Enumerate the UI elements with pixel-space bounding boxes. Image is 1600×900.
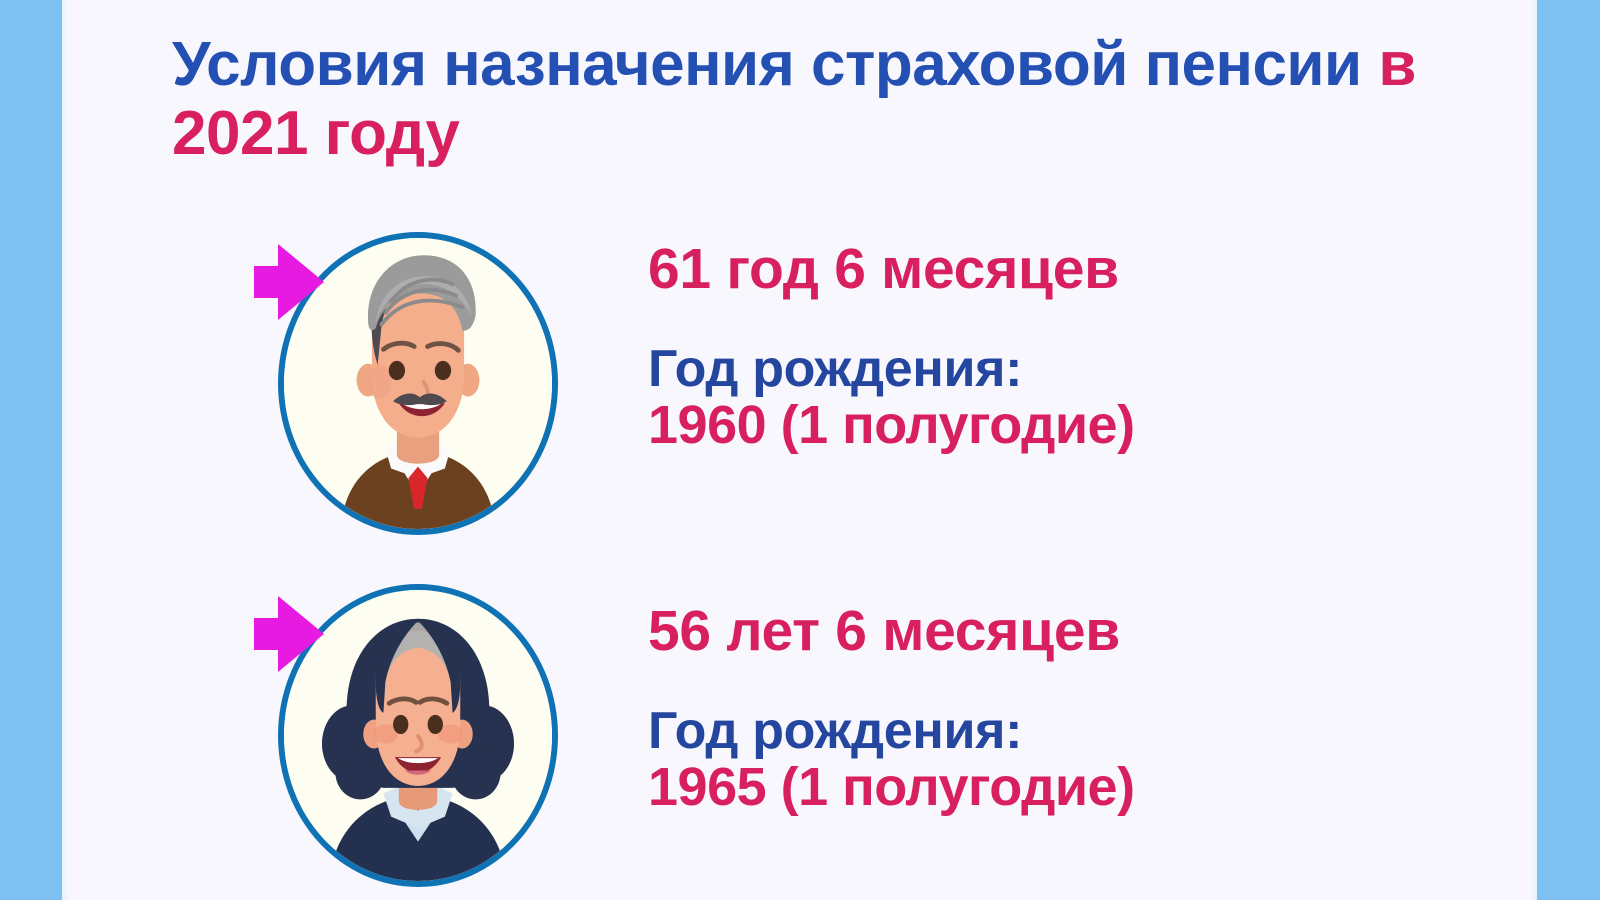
avatar — [246, 232, 546, 542]
page-title: Условия назначения страховой пенсии в 20… — [172, 30, 1442, 169]
left-color-band — [0, 0, 62, 900]
content-stage: Условия назначения страховой пенсии в 20… — [68, 0, 1531, 900]
avatar — [246, 584, 546, 894]
person-info-man: 61 год 6 месяцев Год рождения: 1960 (1 п… — [648, 240, 1488, 455]
retirement-age-value: 61 год 6 месяцев — [648, 240, 1488, 300]
person-info-woman: 56 лет 6 месяцев Год рождения: 1965 (1 п… — [648, 602, 1488, 817]
birth-year-label: Год рождения: — [648, 704, 1488, 760]
retirement-age-value: 56 лет 6 месяцев — [648, 602, 1488, 662]
right-color-band — [1537, 0, 1600, 900]
arrow-right-icon — [246, 240, 342, 328]
birth-year-value: 1965 (1 полугодие) — [648, 759, 1488, 817]
arrow-right-icon — [246, 592, 342, 680]
right-band-edge — [1531, 0, 1537, 900]
infographic-page: Условия назначения страховой пенсии в 20… — [0, 0, 1600, 900]
birth-year-label: Год рождения: — [648, 342, 1488, 398]
birth-year-value: 1960 (1 полугодие) — [648, 397, 1488, 455]
page-title-main: Условия назначения страховой пенсии — [172, 30, 1378, 99]
